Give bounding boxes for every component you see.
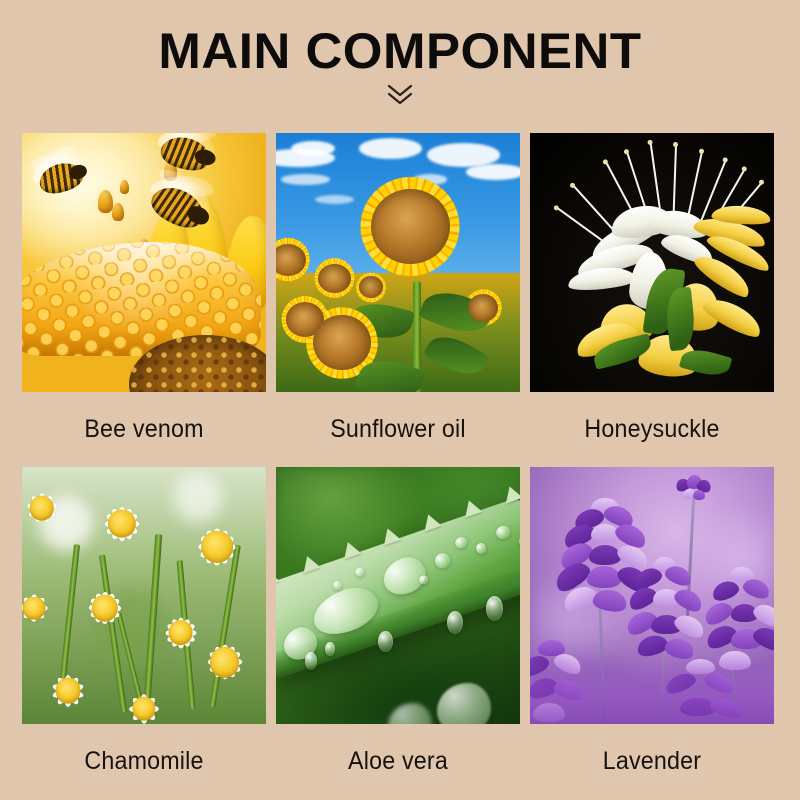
ingredient-label-sunflower-oil: Sunflower oil — [285, 392, 512, 467]
ingredient-image-chamomile — [22, 467, 266, 724]
ingredient-label-aloe-vera: Aloe vera — [285, 724, 512, 799]
ingredient-card-aloe-vera[interactable] — [276, 467, 520, 724]
ingredient-image-honeysuckle — [530, 133, 774, 392]
page-title: MAIN COMPONENT — [0, 22, 800, 80]
ingredient-image-sunflower-oil — [276, 133, 520, 392]
ingredient-labels-row-2: Chamomile Aloe vera Lavender — [22, 724, 776, 799]
ingredient-image-lavender — [530, 467, 774, 724]
chevron-double-down-icon — [380, 82, 420, 106]
divider — [0, 82, 800, 108]
ingredient-row-2 — [22, 467, 776, 724]
ingredient-label-honeysuckle: Honeysuckle — [539, 392, 766, 467]
ingredient-grid: Bee venom Sunflower oil Honeysuckle — [22, 133, 776, 799]
ingredient-row-1 — [22, 133, 776, 392]
ingredient-card-honeysuckle[interactable] — [530, 133, 774, 392]
ingredient-card-sunflower-oil[interactable] — [276, 133, 520, 392]
ingredient-card-bee-venom[interactable] — [22, 133, 266, 392]
ingredient-card-chamomile[interactable] — [22, 467, 266, 724]
ingredient-label-chamomile: Chamomile — [31, 724, 258, 799]
ingredient-card-lavender[interactable] — [530, 467, 774, 724]
ingredient-image-aloe-vera — [276, 467, 520, 724]
main-component-panel: MAIN COMPONENT — [0, 0, 800, 800]
ingredient-image-bee-venom — [22, 133, 266, 392]
ingredient-label-bee-venom: Bee venom — [31, 392, 258, 467]
ingredient-label-lavender: Lavender — [539, 724, 766, 799]
ingredient-labels-row-1: Bee venom Sunflower oil Honeysuckle — [22, 392, 776, 467]
